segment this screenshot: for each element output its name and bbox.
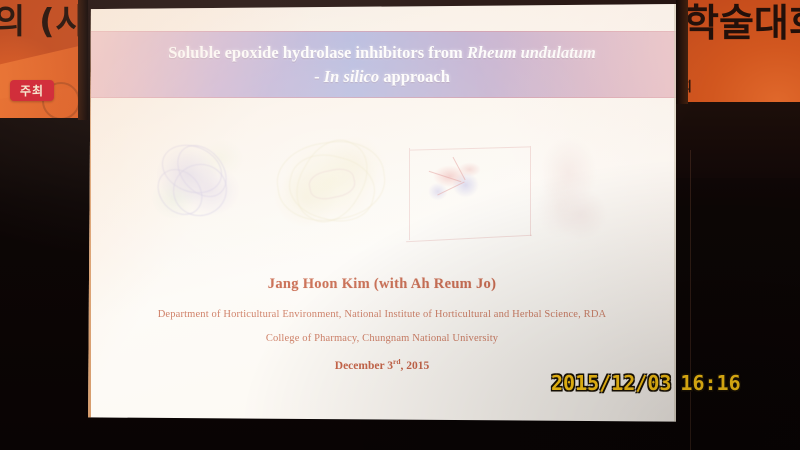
molecular-surface-graphic	[528, 122, 618, 250]
photograph-scene: 의 (사) 주최 학술대회 회 Soluble epoxide hydrolas…	[0, 0, 800, 450]
conference-banner-right: 학술대회 회	[688, 0, 800, 102]
affiliation-line-2: College of Pharmacy, Chungnam National U…	[88, 333, 676, 344]
affiliation-line-1: Department of Horticultural Environment,…	[88, 309, 676, 320]
slide-title-line-2: - In silico approach	[314, 65, 450, 89]
banner-right-edge	[676, 0, 688, 104]
banner-left-korean-text: 의 (사)	[0, 0, 78, 43]
projected-slide: Soluble epoxide hydrolase inhibitors fro…	[88, 4, 676, 428]
banner-right-korean-text: 학술대회	[688, 0, 800, 47]
slide-title-band: Soluble epoxide hydrolase inhibitors fro…	[88, 31, 676, 98]
host-badge: 주최	[10, 80, 54, 101]
timestamp-time: 16:16	[680, 371, 740, 395]
title-in-silico: In silico	[324, 67, 379, 86]
title-text-plain: Soluble epoxide hydrolase inhibitors fro…	[168, 43, 467, 62]
date-year: , 2015	[400, 360, 429, 372]
banner-left-edge	[78, 0, 88, 120]
binding-pocket-graphic	[263, 126, 398, 238]
author-name: Jang Hoon Kim (with Ah Reum Jo)	[88, 276, 676, 293]
presentation-date: December 3rd, 2015	[88, 357, 676, 372]
docking-box-graphic	[406, 142, 536, 247]
slide-author-block: Jang Hoon Kim (with Ah Reum Jo) Departme…	[88, 276, 676, 372]
title-dash: -	[314, 67, 324, 86]
screen-right-border	[674, 4, 676, 428]
protein-structure-graphic	[143, 132, 253, 227]
title-species-name: Rheum undulatum	[467, 43, 596, 62]
date-prefix: December 3	[335, 360, 393, 372]
timestamp-date: 2015/12/03	[551, 371, 671, 395]
conference-banner-left: 의 (사) 주최	[0, 0, 78, 118]
slide-title-line-1: Soluble epoxide hydrolase inhibitors fro…	[168, 41, 596, 65]
banner-right-korean-small: 회	[688, 76, 692, 95]
projection-screen: Soluble epoxide hydrolase inhibitors fro…	[88, 4, 676, 428]
host-badge-label: 주최	[20, 82, 44, 99]
wall-seam	[690, 150, 691, 450]
wall-band	[676, 100, 800, 178]
title-approach: approach	[379, 67, 450, 86]
camera-timestamp: 2015/12/0316:16	[551, 371, 741, 395]
